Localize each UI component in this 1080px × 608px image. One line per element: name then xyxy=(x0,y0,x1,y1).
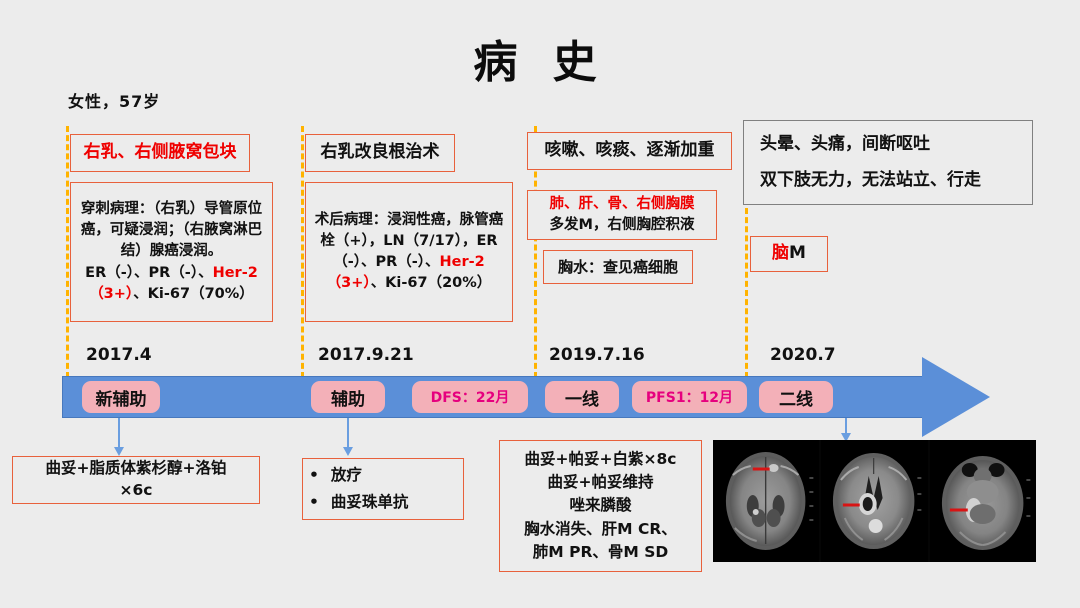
event-4-brain-met-label: 脑M xyxy=(772,243,806,264)
event-1-detail-line-1: 穿刺病理：（右乳）导管原位癌，可疑浸润；（右腋窝淋巴结）腺癌浸润。 xyxy=(79,199,264,262)
treatment-3-line-4: 胸水消失、肝M CR、 xyxy=(524,518,677,541)
treatment-1-line-1: 曲妥+脂质体紫杉醇+洛铂 xyxy=(46,458,227,480)
treatment-1-line-2: ×6c xyxy=(120,480,153,502)
treatment-2-box: 放疗 曲妥珠单抗 xyxy=(302,458,464,520)
event-4-symptom-line-2: 双下肢无力，无法站立、行走 xyxy=(760,170,1016,191)
event-1-receptors: ER（-）、PR（-）、 xyxy=(85,265,212,281)
pill-second-line-label: 二线 xyxy=(779,385,813,410)
mri-axial-1 xyxy=(713,440,819,562)
pill-dfs[interactable]: DFS：22月 xyxy=(412,381,528,413)
treatment-2-bullets: 放疗 曲妥珠单抗 xyxy=(303,462,408,516)
event-1-header-box: 右乳、右侧腋窝包块 xyxy=(70,134,250,172)
event-1-date: 2017.4 xyxy=(86,345,152,365)
pill-pfs1[interactable]: PFS1：12月 xyxy=(632,381,747,413)
pill-first-line[interactable]: 一线 xyxy=(545,381,619,413)
treatment-2-bullet-2: 曲妥珠单抗 xyxy=(309,489,408,516)
connector-2-arrow xyxy=(343,447,353,456)
treatment-3-box: 曲妥+帕妥+白紫×8c 曲妥+帕妥维持 唑来膦酸 胸水消失、肝M CR、 肺M … xyxy=(499,440,702,572)
mri-axial-2 xyxy=(821,440,927,562)
event-2-date: 2017.9.21 xyxy=(318,345,414,365)
pill-adjuvant[interactable]: 辅助 xyxy=(311,381,385,413)
event-1-detail-text: 穿刺病理：（右乳）导管原位癌，可疑浸润；（右腋窝淋巴结）腺癌浸润。 ER（-）、… xyxy=(71,193,272,310)
pill-neoadjuvant-label: 新辅助 xyxy=(96,385,147,410)
slide-root: 病 史 女性，57岁 右乳、右侧腋窝包块 穿刺病理：（右乳）导管原位癌，可疑浸润… xyxy=(0,0,1080,608)
event-2-header-label: 右乳改良根治术 xyxy=(321,142,440,163)
mri-axial-3 xyxy=(930,440,1036,562)
guide-line-1 xyxy=(66,126,69,378)
event-3-metastasis-desc: 多发M，右侧胸腔积液 xyxy=(550,215,695,236)
event-3-metastasis-sites: 肺、肝、骨、右侧胸膜 xyxy=(550,194,695,215)
pill-second-line[interactable]: 二线 xyxy=(759,381,833,413)
connector-2 xyxy=(347,418,349,448)
event-4-header-box: 头晕、头痛，间断呕吐 双下肢无力，无法站立、行走 xyxy=(743,120,1033,205)
event-4-brain-met-box: 脑M xyxy=(750,236,828,272)
event-4-brain-met-red: 脑 xyxy=(772,243,789,263)
event-1-detail-line-2: ER（-）、PR（-）、Her-2（3+）、Ki-67（70%） xyxy=(79,263,264,305)
connector-3 xyxy=(845,418,847,434)
pill-pfs1-label: PFS1：12月 xyxy=(646,387,733,407)
treatment-3-line-5: 肺M PR、骨M SD xyxy=(533,541,668,564)
mri-image-strip xyxy=(713,440,1036,562)
event-2-detail-box: 术后病理：浸润性癌，脉管癌栓（+），LN（7/17），ER（-）、PR（-）、H… xyxy=(305,182,513,322)
timeline-arrow-head xyxy=(922,357,990,437)
pill-first-line-label: 一线 xyxy=(565,385,599,410)
event-3-pleural-label: 胸水：查见癌细胞 xyxy=(558,258,678,277)
connector-1-arrow xyxy=(114,447,124,456)
treatment-2-bullet-1: 放疗 xyxy=(309,462,408,489)
connector-1 xyxy=(118,418,120,448)
event-3-header-label: 咳嗽、咳痰、逐渐加重 xyxy=(545,140,715,161)
event-4-symptom-line-1: 头晕、头痛，间断呕吐 xyxy=(760,134,1016,155)
event-3-date: 2019.7.16 xyxy=(549,345,645,365)
event-3-metastasis-box: 肺、肝、骨、右侧胸膜 多发M，右侧胸腔积液 xyxy=(527,190,717,240)
page-title: 病 史 xyxy=(0,26,1080,90)
guide-line-2 xyxy=(301,126,304,378)
event-3-metastasis-text: 肺、肝、骨、右侧胸膜 多发M，右侧胸腔积液 xyxy=(548,194,697,236)
event-3-pleural-box: 胸水：查见癌细胞 xyxy=(543,250,693,284)
treatment-1-box: 曲妥+脂质体紫杉醇+洛铂 ×6c xyxy=(12,456,260,504)
event-1-header-label: 右乳、右侧腋窝包块 xyxy=(84,142,237,163)
event-2-header-box: 右乳改良根治术 xyxy=(305,134,455,172)
pill-neoadjuvant[interactable]: 新辅助 xyxy=(82,381,160,413)
treatment-3-line-3: 唑来膦酸 xyxy=(569,494,631,517)
event-2-detail-text: 术后病理：浸润性癌，脉管癌栓（+），LN（7/17），ER（-）、PR（-）、H… xyxy=(306,204,512,300)
treatment-3-line-2: 曲妥+帕妥维持 xyxy=(548,471,654,494)
patient-info: 女性，57岁 xyxy=(68,88,160,112)
event-4-brain-met-black: M xyxy=(789,243,806,263)
pill-dfs-label: DFS：22月 xyxy=(431,387,510,407)
event-4-date: 2020.7 xyxy=(770,345,836,365)
event-3-header-box: 咳嗽、咳痰、逐渐加重 xyxy=(527,132,732,170)
event-1-ki67: 、Ki-67（70%） xyxy=(133,286,254,302)
treatment-3-line-1: 曲妥+帕妥+白紫×8c xyxy=(525,448,677,471)
pill-adjuvant-label: 辅助 xyxy=(331,385,365,410)
event-2-ki67: 、Ki-67（20%） xyxy=(371,275,492,291)
event-1-detail-box: 穿刺病理：（右乳）导管原位癌，可疑浸润；（右腋窝淋巴结）腺癌浸润。 ER（-）、… xyxy=(70,182,273,322)
